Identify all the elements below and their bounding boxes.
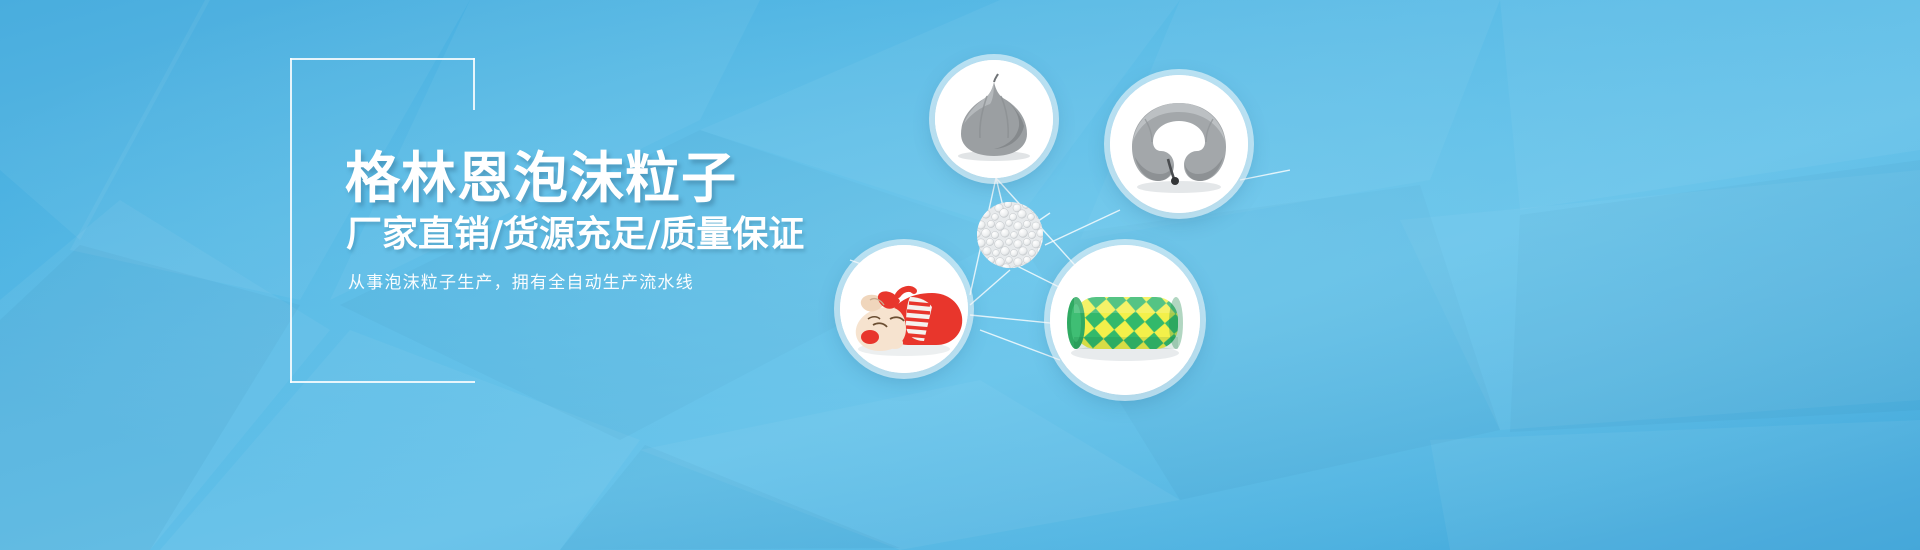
banner-tagline: 从事泡沫粒子生产，拥有全自动生产流水线 [348,270,694,296]
promotional-banner: 格林恩泡沫粒子 厂家直销/货源充足/质量保证 从事泡沫粒子生产，拥有全自动生产流… [0,0,1920,550]
product-plush-pillow[interactable] [840,245,968,373]
frame-top-line [290,58,475,60]
banner-headline: 格林恩泡沫粒子 [345,146,737,210]
bolster-pillow-icon [1050,245,1200,395]
frame-left-line [290,58,292,383]
product-cluster [820,30,1290,390]
frame-bottom-line [290,381,475,383]
product-foam-pellets[interactable] [975,200,1045,270]
headline-block: 格林恩泡沫粒子 厂家直销/货源充足/质量保证 从事泡沫粒子生产，拥有全自动生产流… [290,58,760,388]
product-neck-pillow[interactable] [1110,75,1248,213]
beanbag-chair-icon [935,60,1053,178]
foam-pellets-icon [975,200,1045,270]
frame-right-stub [473,58,475,110]
banner-subline: 厂家直销/货源充足/质量保证 [346,213,804,257]
product-bolster-pillow[interactable] [1050,245,1200,395]
plush-animal-pillow-icon [840,245,968,373]
neck-pillow-icon [1110,75,1248,213]
product-beanbag-chair[interactable] [935,60,1053,178]
